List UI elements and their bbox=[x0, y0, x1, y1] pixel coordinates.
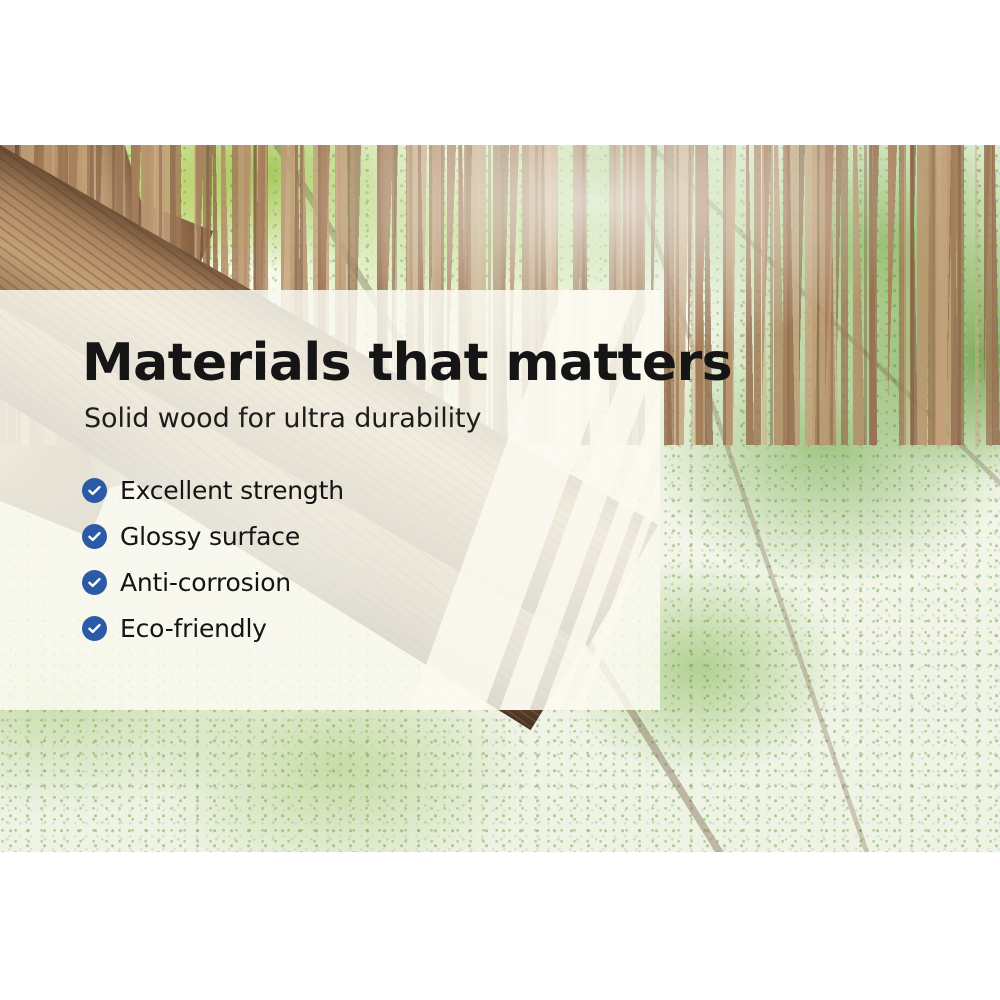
list-item: Excellent strength bbox=[82, 468, 732, 514]
page-title: Materials that matters bbox=[82, 336, 732, 390]
list-item: Eco-friendly bbox=[82, 606, 732, 652]
feature-label: Glossy surface bbox=[120, 524, 300, 549]
feature-label: Excellent strength bbox=[120, 478, 344, 503]
check-circle-icon bbox=[82, 524, 107, 549]
feature-label: Eco-friendly bbox=[120, 616, 267, 641]
list-item: Glossy surface bbox=[82, 514, 732, 560]
check-circle-icon bbox=[82, 478, 107, 503]
feature-label: Anti-corrosion bbox=[120, 570, 291, 595]
panel-copy: Materials that matters Solid wood for ul… bbox=[82, 336, 732, 652]
feature-list: Excellent strength Glossy surface Anti-c… bbox=[82, 468, 732, 652]
page-subtitle: Solid wood for ultra durability bbox=[84, 404, 732, 434]
check-circle-icon bbox=[82, 616, 107, 641]
promo-banner: Materials that matters Solid wood for ul… bbox=[0, 0, 1000, 1000]
list-item: Anti-corrosion bbox=[82, 560, 732, 606]
check-circle-icon bbox=[82, 570, 107, 595]
